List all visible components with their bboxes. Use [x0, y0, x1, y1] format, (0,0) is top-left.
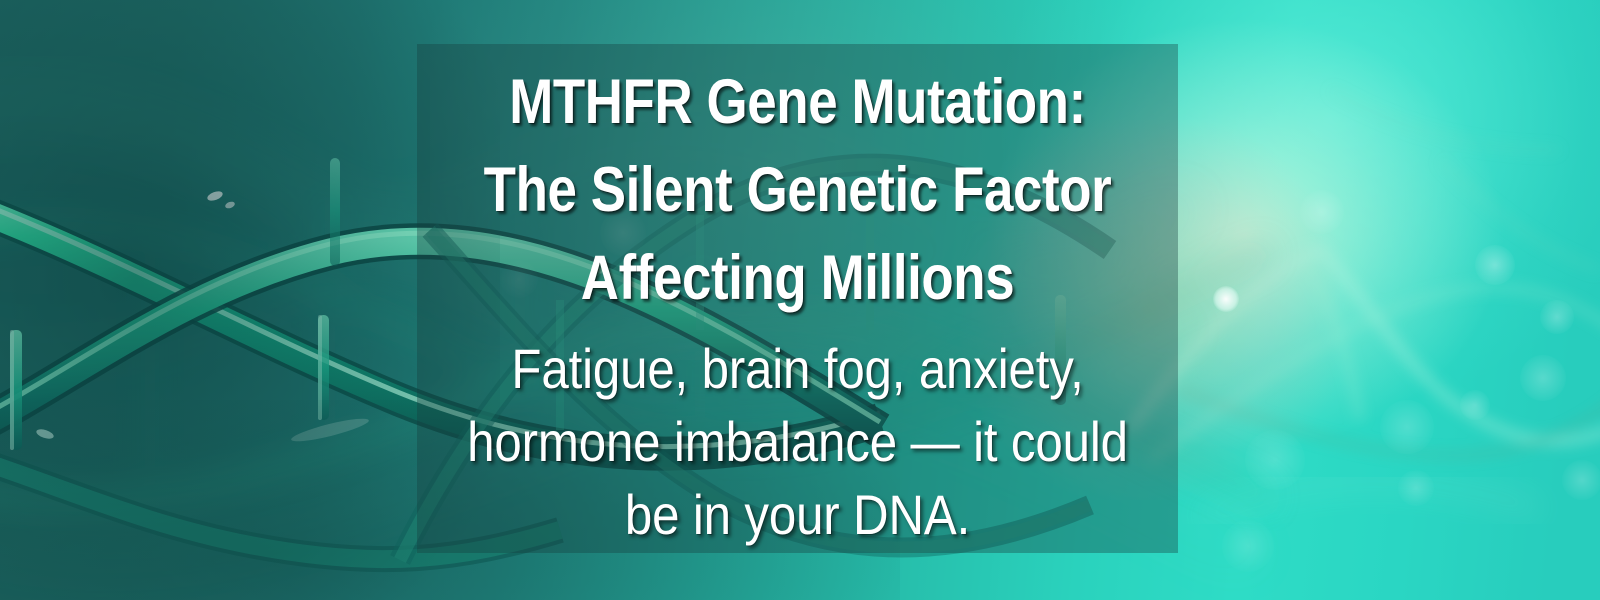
subheadline-line-3: be in your DNA.: [463, 478, 1133, 551]
headline-block: MTHFR Gene Mutation: The Silent Genetic …: [417, 58, 1178, 322]
subheadline-line-1: Fatigue, brain fog, anxiety,: [463, 332, 1133, 405]
headline-line-1: MTHFR Gene Mutation:: [478, 58, 1117, 146]
hero-banner: MTHFR Gene Mutation: The Silent Genetic …: [0, 0, 1600, 600]
banner-text-stack: MTHFR Gene Mutation: The Silent Genetic …: [417, 44, 1178, 553]
subheadline-block: Fatigue, brain fog, anxiety, hormone imb…: [417, 332, 1178, 551]
headline-line-2: The Silent Genetic Factor: [478, 146, 1117, 234]
subheadline-line-2: hormone imbalance — it could: [463, 405, 1133, 478]
headline-line-3: Affecting Millions: [478, 234, 1117, 322]
